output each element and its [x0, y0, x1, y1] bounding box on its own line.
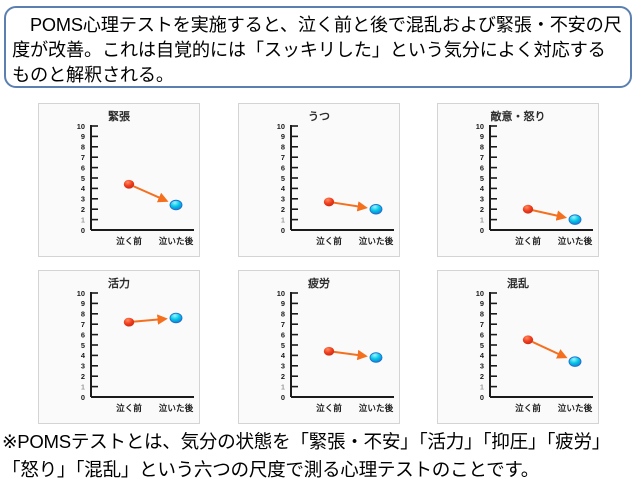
svg-text:10: 10	[77, 289, 85, 298]
svg-text:10: 10	[476, 289, 484, 298]
svg-text:泣く前: 泣く前	[316, 402, 342, 413]
svg-text:6: 6	[480, 330, 484, 339]
svg-text:7: 7	[281, 320, 285, 329]
svg-text:0: 0	[480, 393, 484, 402]
svg-text:8: 8	[480, 310, 484, 319]
svg-text:4: 4	[281, 351, 286, 360]
svg-text:10: 10	[476, 122, 484, 131]
svg-text:1: 1	[281, 215, 285, 224]
svg-text:泣く前: 泣く前	[316, 235, 342, 246]
svg-text:1: 1	[480, 382, 484, 391]
svg-text:1: 1	[281, 382, 285, 391]
chart-plot-confusion: 012345678910泣く前泣いた後	[438, 271, 600, 425]
svg-text:6: 6	[480, 163, 484, 172]
svg-text:10: 10	[277, 289, 285, 298]
svg-text:6: 6	[81, 163, 85, 172]
svg-text:泣く前: 泣く前	[515, 235, 541, 246]
svg-text:泣いた後: 泣いた後	[359, 235, 394, 246]
svg-text:3: 3	[81, 195, 85, 204]
svg-text:2: 2	[81, 372, 85, 381]
chart-panel-depression: うつ 012345678910泣く前泣いた後	[238, 103, 400, 257]
svg-text:9: 9	[81, 299, 85, 308]
chart-plot-vigor: 012345678910泣く前泣いた後	[39, 271, 201, 425]
svg-text:4: 4	[81, 184, 86, 193]
svg-text:1: 1	[81, 215, 85, 224]
svg-text:9: 9	[281, 299, 285, 308]
svg-text:7: 7	[81, 153, 85, 162]
svg-text:7: 7	[281, 153, 285, 162]
svg-text:8: 8	[81, 310, 85, 319]
summary-callout-box: POMS心理テストを実施すると、泣く前と後で混乱および緊張・不安の尺度が改善。こ…	[4, 6, 632, 88]
chart-panel-confusion: 混乱 012345678910泣く前泣いた後	[437, 270, 599, 424]
svg-text:7: 7	[480, 320, 484, 329]
svg-text:9: 9	[281, 132, 285, 141]
svg-text:5: 5	[81, 174, 85, 183]
chart-panel-fatigue: 疲労 012345678910泣く前泣いた後	[238, 270, 400, 424]
svg-text:0: 0	[281, 393, 285, 402]
svg-text:泣いた後: 泣いた後	[558, 402, 593, 413]
svg-text:3: 3	[281, 362, 285, 371]
svg-text:1: 1	[81, 382, 85, 391]
svg-text:2: 2	[480, 205, 484, 214]
svg-text:4: 4	[81, 351, 86, 360]
chart-plot-depression: 012345678910泣く前泣いた後	[239, 104, 401, 258]
svg-text:8: 8	[281, 310, 285, 319]
svg-text:0: 0	[281, 226, 285, 235]
svg-text:泣く前: 泣く前	[116, 235, 142, 246]
svg-text:1: 1	[480, 215, 484, 224]
svg-text:2: 2	[281, 205, 285, 214]
svg-text:8: 8	[281, 143, 285, 152]
svg-text:泣いた後: 泣いた後	[558, 235, 593, 246]
svg-text:9: 9	[480, 299, 484, 308]
svg-text:4: 4	[480, 351, 485, 360]
svg-text:8: 8	[81, 143, 85, 152]
chart-plot-tension: 012345678910泣く前泣いた後	[39, 104, 201, 258]
svg-text:10: 10	[77, 122, 85, 131]
svg-text:2: 2	[480, 372, 484, 381]
svg-text:泣いた後: 泣いた後	[159, 235, 194, 246]
svg-text:0: 0	[81, 226, 85, 235]
svg-text:3: 3	[281, 195, 285, 204]
svg-text:5: 5	[81, 341, 85, 350]
poms-charts-grid: 緊張 012345678910泣く前泣いた後 うつ 012345678910泣く…	[38, 103, 602, 428]
svg-text:5: 5	[480, 341, 484, 350]
svg-text:5: 5	[281, 341, 285, 350]
svg-text:9: 9	[81, 132, 85, 141]
svg-text:4: 4	[281, 184, 286, 193]
svg-text:泣く前: 泣く前	[515, 402, 541, 413]
svg-text:6: 6	[81, 330, 85, 339]
chart-panel-hostility-anger: 敵意・怒り 012345678910泣く前泣いた後	[437, 103, 599, 257]
svg-text:6: 6	[281, 330, 285, 339]
chart-panel-tension: 緊張 012345678910泣く前泣いた後	[38, 103, 200, 257]
svg-text:3: 3	[81, 362, 85, 371]
svg-text:7: 7	[480, 153, 484, 162]
svg-text:5: 5	[281, 174, 285, 183]
svg-text:6: 6	[281, 163, 285, 172]
chart-plot-fatigue: 012345678910泣く前泣いた後	[239, 271, 401, 425]
svg-text:泣いた後: 泣いた後	[159, 402, 194, 413]
svg-text:泣いた後: 泣いた後	[359, 402, 394, 413]
svg-text:泣く前: 泣く前	[116, 402, 142, 413]
svg-text:8: 8	[480, 143, 484, 152]
chart-panel-vigor: 活力 012345678910泣く前泣いた後	[38, 270, 200, 424]
summary-text: POMS心理テストを実施すると、泣く前と後で混乱および緊張・不安の尺度が改善。こ…	[12, 13, 622, 88]
svg-text:5: 5	[480, 174, 484, 183]
svg-text:9: 9	[480, 132, 484, 141]
svg-text:3: 3	[480, 362, 484, 371]
svg-text:3: 3	[480, 195, 484, 204]
svg-text:7: 7	[81, 320, 85, 329]
svg-text:4: 4	[480, 184, 485, 193]
svg-text:0: 0	[480, 226, 484, 235]
svg-text:0: 0	[81, 393, 85, 402]
svg-text:2: 2	[281, 372, 285, 381]
svg-text:2: 2	[81, 205, 85, 214]
poms-definition-note: ※POMSテストとは、気分の状態を「緊張・不安」「活力」「抑圧」「疲労」「怒り」…	[2, 428, 636, 484]
svg-text:10: 10	[277, 122, 285, 131]
chart-plot-hostility-anger: 012345678910泣く前泣いた後	[438, 104, 600, 258]
